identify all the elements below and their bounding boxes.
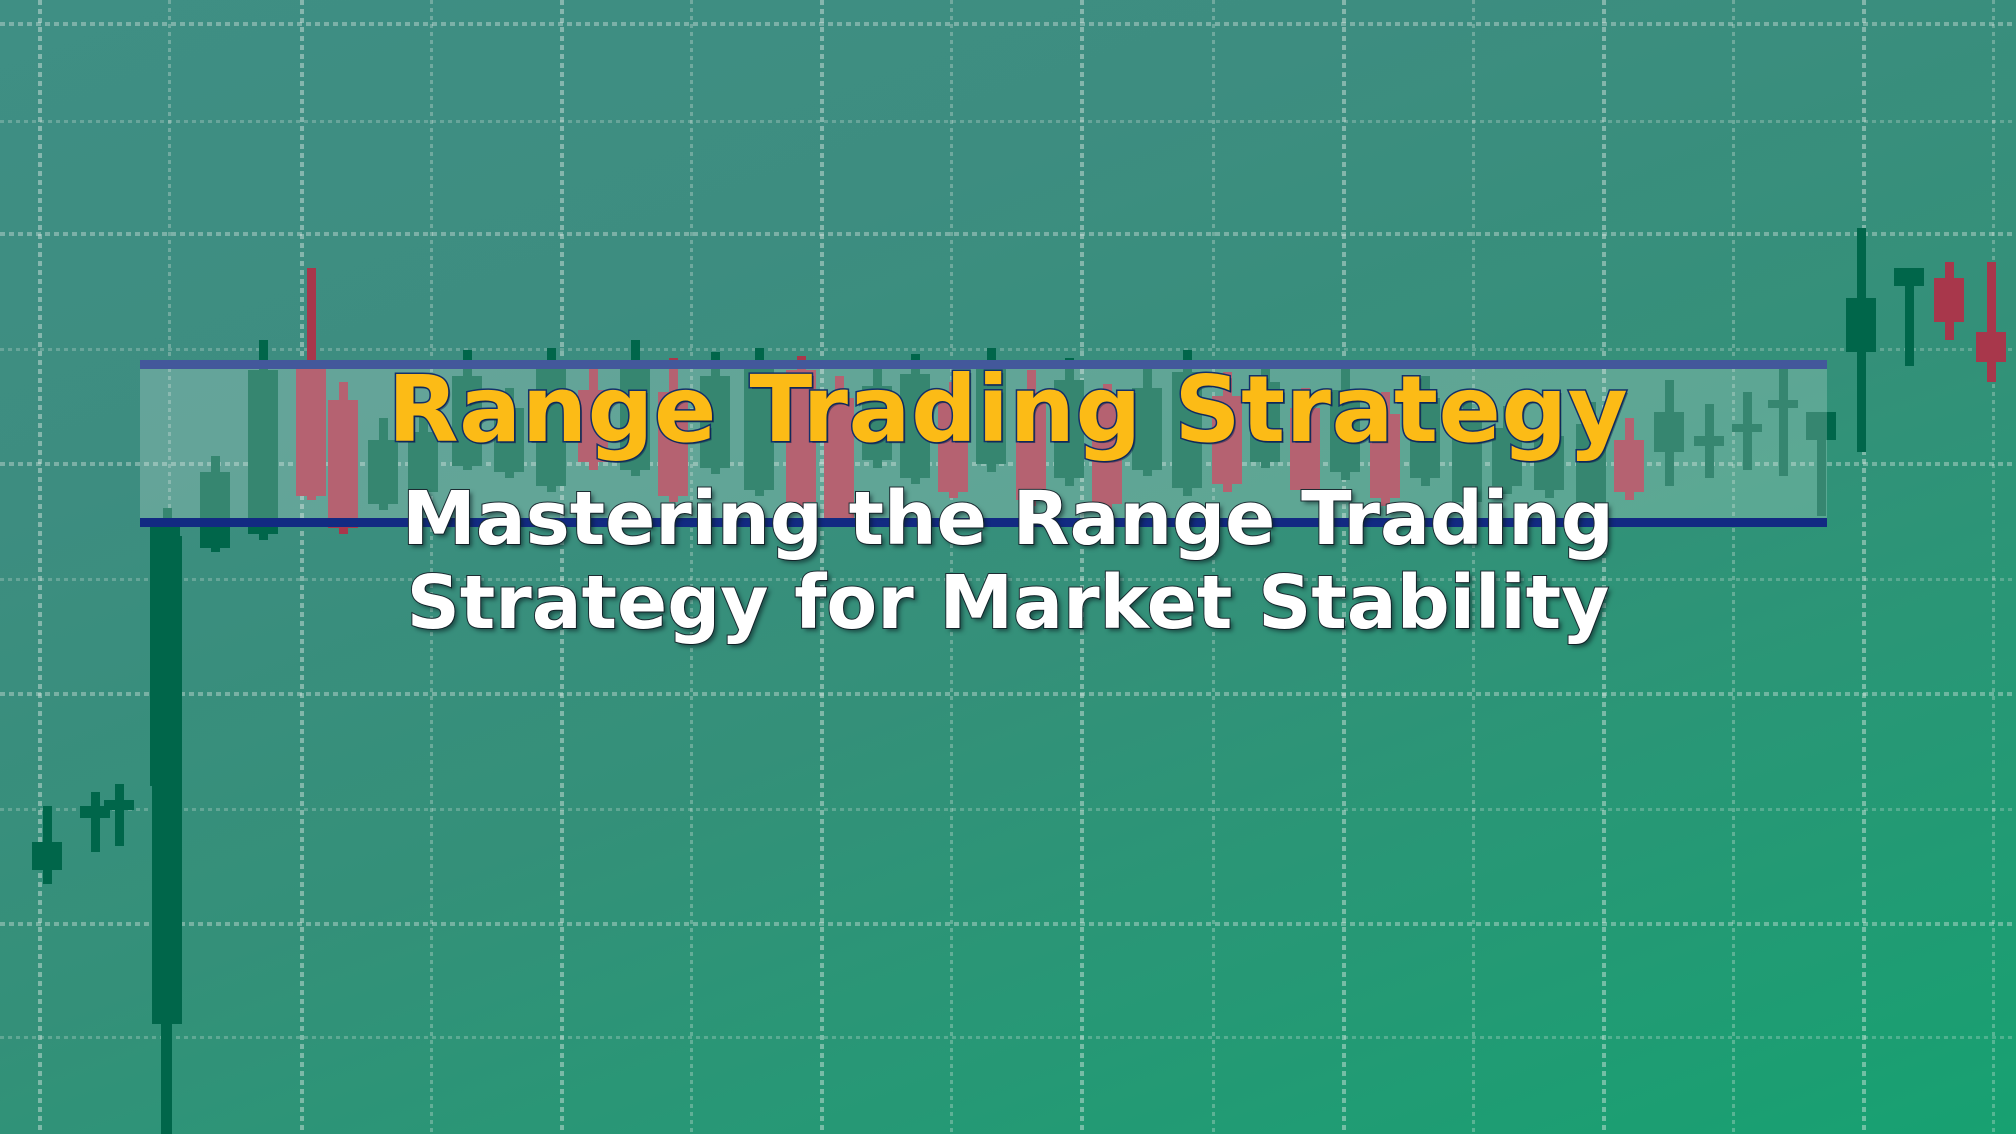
candlestick-body — [104, 800, 134, 810]
page-subtitle: Mastering the Range Trading Strategy for… — [0, 478, 2016, 645]
range-trading-banner: Range Trading Strategy Mastering the Ran… — [0, 0, 2016, 1134]
candlestick-body — [1846, 298, 1876, 352]
page-title: Range Trading Strategy — [0, 364, 2016, 456]
page-subtitle-line-2: Strategy for Market Stability — [0, 562, 2016, 646]
candlestick-wick — [91, 792, 100, 852]
candlestick-wick — [115, 784, 124, 846]
page-subtitle-line-1: Mastering the Range Trading — [0, 478, 2016, 562]
candlestick-body — [1934, 278, 1964, 322]
candlestick-body — [1976, 332, 2006, 362]
candlestick-body — [32, 842, 62, 870]
candlestick-body — [1894, 268, 1924, 286]
